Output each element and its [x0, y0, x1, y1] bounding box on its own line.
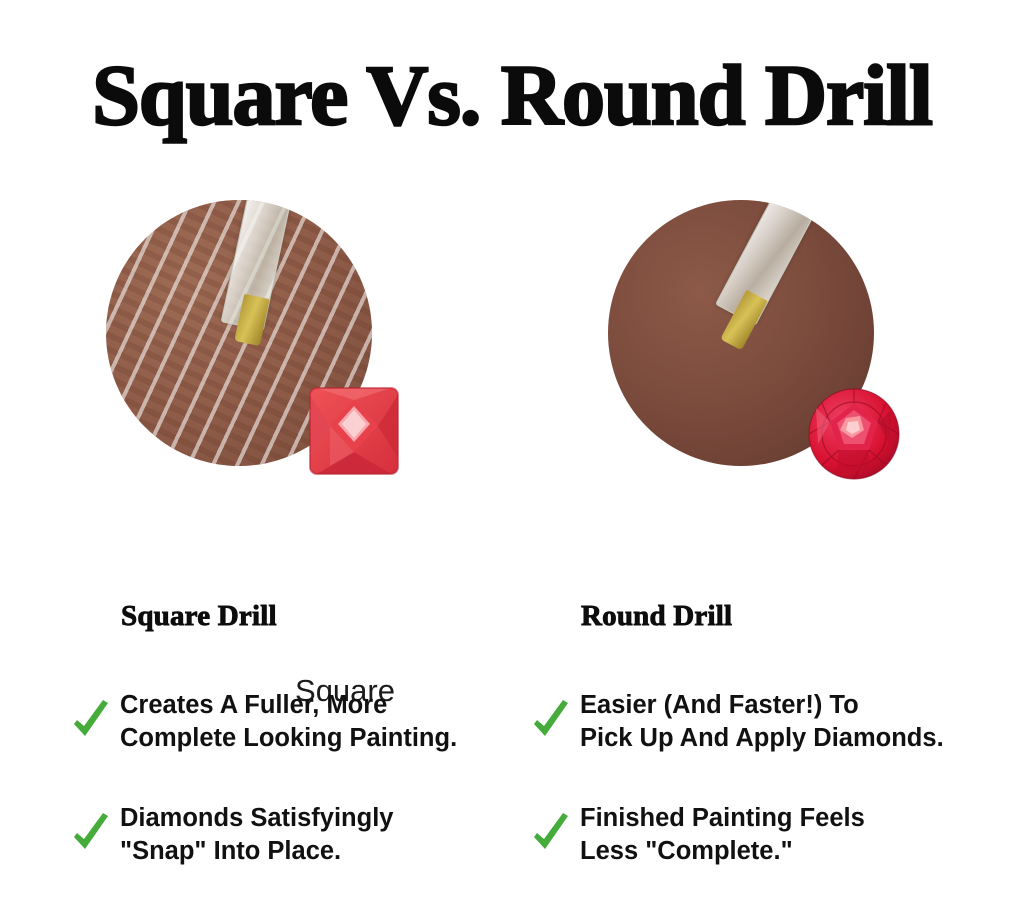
square-drill-column: Square Drill Creates A Fuller, More Comp…	[118, 600, 558, 916]
check-icon	[71, 700, 111, 744]
square-drill-heading: Square Drill	[121, 600, 558, 633]
square-drill-photo-panel: Square	[90, 190, 420, 490]
list-item: Finished Painting Feels Less "Complete."	[578, 802, 1018, 867]
round-benefit-2: Finished Painting Feels Less "Complete."	[580, 802, 865, 867]
square-gem-sample	[308, 386, 400, 476]
square-benefit-2: Diamonds Satisfyingly "Snap" Into Place.	[120, 802, 393, 867]
round-drill-photo-panel: E F	[592, 190, 922, 490]
list-item: Diamonds Satisfyingly "Snap" Into Place.	[118, 802, 558, 867]
round-benefit-1: Easier (And Faster!) To Pick Up And Appl…	[580, 689, 944, 754]
round-drill-heading: Round Drill	[581, 600, 1018, 633]
round-gem-sample	[806, 388, 902, 480]
square-benefit-1: Creates A Fuller, More Complete Looking …	[120, 689, 457, 754]
round-drill-column: Round Drill Easier (And Faster!) To Pick…	[578, 600, 1018, 916]
check-icon	[71, 813, 111, 857]
list-item: Creates A Fuller, More Complete Looking …	[118, 689, 558, 754]
check-icon	[531, 700, 571, 744]
list-item: Easier (And Faster!) To Pick Up And Appl…	[578, 689, 1018, 754]
check-icon	[531, 813, 571, 857]
page-title: Square Vs. Round Drill	[0, 52, 1024, 138]
